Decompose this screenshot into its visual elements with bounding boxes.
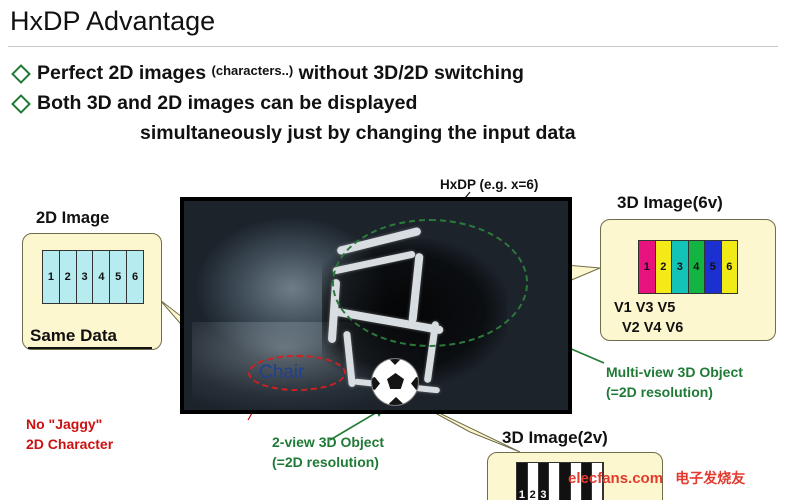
twoview-line-1: 2-view 3D Object bbox=[272, 434, 384, 450]
ball-right-pentagon bbox=[411, 377, 419, 390]
stripe-2: 2 bbox=[656, 241, 673, 293]
stripe-label: 5 bbox=[710, 261, 716, 273]
chair-text: Chair bbox=[259, 362, 304, 384]
stripe-2: 2 bbox=[528, 463, 539, 500]
stripe-label: 1 bbox=[644, 261, 650, 273]
stripe-6: 6 bbox=[722, 241, 738, 293]
bullet-row-2: Both 3D and 2D images can be displayed bbox=[14, 92, 417, 115]
stripe-6: 6 bbox=[127, 251, 143, 303]
ball-left-pentagon bbox=[371, 377, 380, 390]
stripe-label: 2 bbox=[660, 261, 666, 273]
stripe-label: 6 bbox=[132, 271, 138, 283]
stripe-4 bbox=[549, 463, 560, 500]
stripe-label: 3 bbox=[540, 489, 546, 500]
stripe-2: 2 bbox=[60, 251, 77, 303]
bullet-1-main: Perfect 2D images bbox=[37, 62, 212, 84]
stripe-label: 4 bbox=[98, 271, 104, 283]
no-jaggy-line-1: No "Jaggy" bbox=[26, 416, 102, 432]
ball-top-pentagon bbox=[388, 358, 402, 365]
stripe-1: 1 bbox=[639, 241, 656, 293]
hxdp-overlay-label: HxDP (e.g. x=6) bbox=[440, 177, 538, 192]
stripe-3: 3 bbox=[77, 251, 94, 303]
no-jaggy-line-2: 2D Character bbox=[26, 436, 113, 452]
slide-canvas: HxDP Advantage Perfect 2D images (charac… bbox=[0, 0, 786, 500]
title-divider bbox=[8, 46, 778, 47]
same-data-label: Same Data bbox=[30, 326, 117, 346]
stripe-label: 3 bbox=[677, 261, 683, 273]
same-data-underline bbox=[28, 347, 152, 349]
watermark-site: elecfans.com bbox=[568, 470, 663, 487]
stripe-label: 4 bbox=[693, 261, 699, 273]
callout-3d6-title: 3D Image(6v) bbox=[617, 193, 723, 213]
ball-bottom-pentagon bbox=[389, 397, 403, 406]
bullet-1-tail: without 3D/2D switching bbox=[293, 62, 524, 84]
stripe-3: 3 bbox=[539, 463, 550, 500]
bullet-1-superscript: (characters..) bbox=[212, 63, 294, 78]
stripe-1: 1 bbox=[43, 251, 60, 303]
twoview-line-2: (=2D resolution) bbox=[272, 454, 379, 470]
stripe-label: 1 bbox=[48, 271, 54, 283]
multiview-line-1: Multi-view 3D Object bbox=[606, 364, 743, 380]
stripe-label: 1 bbox=[519, 489, 525, 500]
watermark-cn: 电子发烧友 bbox=[675, 470, 745, 486]
highlight-ellipse bbox=[332, 219, 528, 347]
diamond-bullet-icon bbox=[11, 64, 31, 84]
watermark: elecfans.com 电子发烧友 bbox=[568, 468, 745, 488]
stripe-5: 5 bbox=[705, 241, 722, 293]
diamond-bullet-icon bbox=[11, 94, 31, 114]
stripe-4: 4 bbox=[689, 241, 706, 293]
stripe-group-6v: 123456 bbox=[638, 240, 738, 294]
soccer-ball-icon bbox=[371, 358, 419, 406]
bullet-2-continuation: simultaneously just by changing the inpu… bbox=[140, 122, 576, 145]
stripe-label: 2 bbox=[65, 271, 71, 283]
callout-3d2-title: 3D Image(2v) bbox=[502, 428, 608, 448]
bullet-1-text: Perfect 2D images (characters..) without… bbox=[37, 62, 524, 85]
ball-center-pentagon bbox=[387, 373, 404, 389]
bullet-2-text: Both 3D and 2D images can be displayed bbox=[37, 92, 417, 115]
page-title: HxDP Advantage bbox=[10, 6, 215, 37]
callout-2d-title: 2D Image bbox=[36, 209, 109, 228]
stripe-label: 3 bbox=[82, 271, 88, 283]
stripe-label: 5 bbox=[115, 271, 121, 283]
view-labels-row-2: V2 V4 V6 bbox=[622, 320, 683, 336]
stripe-group-2d: 123456 bbox=[42, 250, 144, 304]
stripe-4: 4 bbox=[93, 251, 110, 303]
stripe-1: 1 bbox=[517, 463, 528, 500]
stripe-label: 2 bbox=[530, 489, 536, 500]
multiview-line-2: (=2D resolution) bbox=[606, 384, 713, 400]
stripe-3: 3 bbox=[672, 241, 689, 293]
stripe-label: 6 bbox=[726, 261, 732, 273]
view-labels-row-1: V1 V3 V5 bbox=[614, 300, 675, 316]
stripe-5: 5 bbox=[110, 251, 127, 303]
bullet-row-1: Perfect 2D images (characters..) without… bbox=[14, 62, 524, 85]
